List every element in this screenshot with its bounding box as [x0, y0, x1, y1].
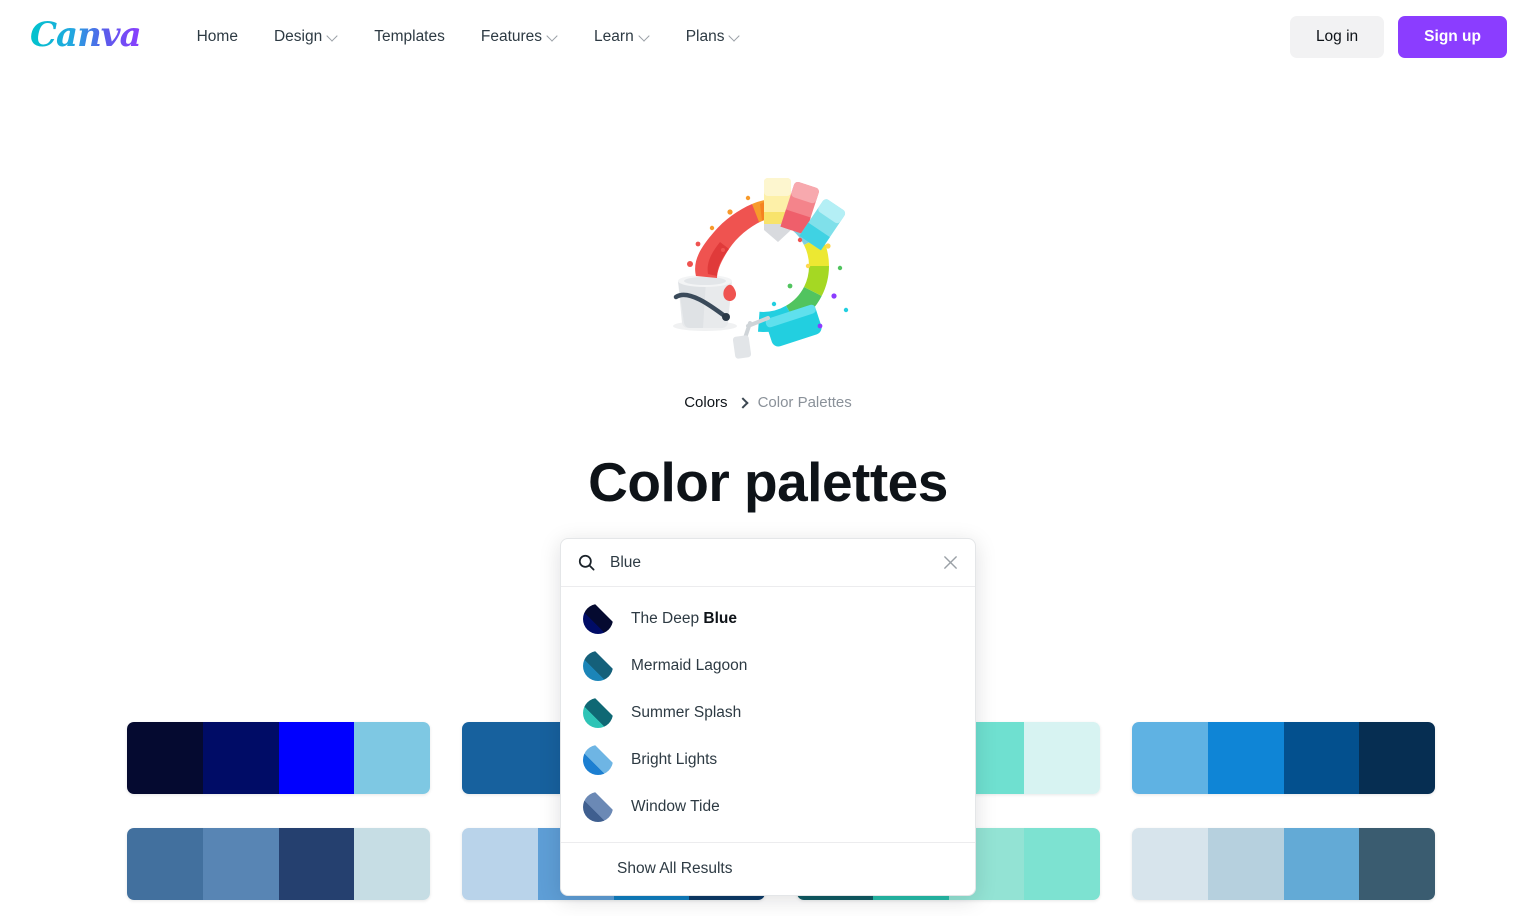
- chevron-right-icon: [737, 397, 748, 408]
- nav-item-home[interactable]: Home: [181, 18, 254, 56]
- header-actions: Log in Sign up: [1290, 16, 1507, 58]
- suggestion-label: Window Tide: [631, 798, 720, 816]
- main-nav: HomeDesignTemplatesFeaturesLearnPlans: [181, 18, 757, 56]
- palette-swatch[interactable]: [279, 828, 355, 900]
- chevron-down-icon: [548, 31, 558, 41]
- nav-item-label: Plans: [686, 28, 725, 46]
- suggestion-item[interactable]: Window Tide: [561, 783, 975, 830]
- nav-item-label: Home: [197, 28, 238, 46]
- breadcrumb: Colors Color Palettes: [0, 394, 1536, 411]
- nav-item-learn[interactable]: Learn: [578, 18, 666, 56]
- chevron-down-icon: [730, 31, 740, 41]
- nav-item-templates[interactable]: Templates: [358, 18, 461, 56]
- chevron-down-icon: [640, 31, 650, 41]
- palette-swatch-circle-icon: [583, 745, 613, 775]
- color-wheel-illustration: [668, 168, 868, 363]
- search-input[interactable]: [610, 554, 932, 572]
- search-bar: [561, 539, 975, 586]
- palette-swatch[interactable]: [203, 722, 279, 794]
- suggestion-label: Mermaid Lagoon: [631, 657, 747, 675]
- color-wheel-svg: [668, 168, 868, 363]
- page-root: Canva HomeDesignTemplatesFeaturesLearnPl…: [0, 0, 1536, 916]
- nav-item-features[interactable]: Features: [465, 18, 574, 56]
- search-dropdown: The Deep BlueMermaid LagoonSummer Splash…: [560, 538, 976, 896]
- suggestion-item[interactable]: Summer Splash: [561, 689, 975, 736]
- palette-swatch-circle-icon: [583, 651, 613, 681]
- palette-swatch[interactable]: [1208, 828, 1284, 900]
- palette-swatch[interactable]: [1284, 828, 1360, 900]
- palette-swatch[interactable]: [1284, 722, 1360, 794]
- suggestion-label: Summer Splash: [631, 704, 741, 722]
- palette-swatch[interactable]: [127, 722, 203, 794]
- palette-card[interactable]: [127, 722, 430, 794]
- search-icon: [577, 553, 596, 572]
- paint-bucket-icon: [673, 275, 737, 331]
- canva-logo[interactable]: Canva: [30, 18, 141, 56]
- palette-swatch-circle-icon: [583, 792, 613, 822]
- palette-swatch-circle-icon: [583, 698, 613, 728]
- signup-button[interactable]: Sign up: [1398, 16, 1507, 58]
- nav-item-label: Templates: [374, 28, 445, 46]
- palette-swatch[interactable]: [1132, 828, 1208, 900]
- palette-swatch[interactable]: [203, 828, 279, 900]
- palette-swatch[interactable]: [1024, 828, 1100, 900]
- chevron-down-icon: [328, 31, 338, 41]
- palette-swatch[interactable]: [1359, 828, 1435, 900]
- palette-swatch-circle-icon: [583, 604, 613, 634]
- palette-card[interactable]: [1132, 722, 1435, 794]
- nav-item-label: Learn: [594, 28, 634, 46]
- breadcrumb-colors[interactable]: Colors: [684, 394, 727, 411]
- login-button[interactable]: Log in: [1290, 16, 1384, 58]
- nav-item-label: Design: [274, 28, 322, 46]
- swatch-cards: [764, 178, 847, 250]
- palette-swatch[interactable]: [127, 828, 203, 900]
- close-icon[interactable]: [942, 554, 959, 571]
- palette-swatch[interactable]: [462, 722, 538, 794]
- palette-swatch[interactable]: [354, 828, 430, 900]
- suggestion-label: Bright Lights: [631, 751, 717, 769]
- nav-item-design[interactable]: Design: [258, 18, 354, 56]
- breadcrumb-current: Color Palettes: [758, 394, 852, 411]
- palette-swatch[interactable]: [1359, 722, 1435, 794]
- palette-swatch[interactable]: [354, 722, 430, 794]
- palette-swatch[interactable]: [279, 722, 355, 794]
- show-all-results-button[interactable]: Show All Results: [561, 843, 975, 895]
- suggestion-item[interactable]: Mermaid Lagoon: [561, 642, 975, 689]
- page-title: Color palettes: [0, 450, 1536, 514]
- suggestion-label: The Deep Blue: [631, 610, 737, 628]
- palette-card[interactable]: [127, 828, 430, 900]
- site-header: Canva HomeDesignTemplatesFeaturesLearnPl…: [0, 0, 1536, 73]
- suggestion-item[interactable]: The Deep Blue: [561, 595, 975, 642]
- suggestion-item[interactable]: Bright Lights: [561, 736, 975, 783]
- palette-swatch[interactable]: [1024, 722, 1100, 794]
- palette-swatch[interactable]: [1132, 722, 1208, 794]
- nav-item-label: Features: [481, 28, 542, 46]
- suggestion-list: The Deep BlueMermaid LagoonSummer Splash…: [561, 587, 975, 836]
- palette-card[interactable]: [1132, 828, 1435, 900]
- palette-swatch[interactable]: [1208, 722, 1284, 794]
- nav-item-plans[interactable]: Plans: [670, 18, 757, 56]
- palette-swatch[interactable]: [462, 828, 538, 900]
